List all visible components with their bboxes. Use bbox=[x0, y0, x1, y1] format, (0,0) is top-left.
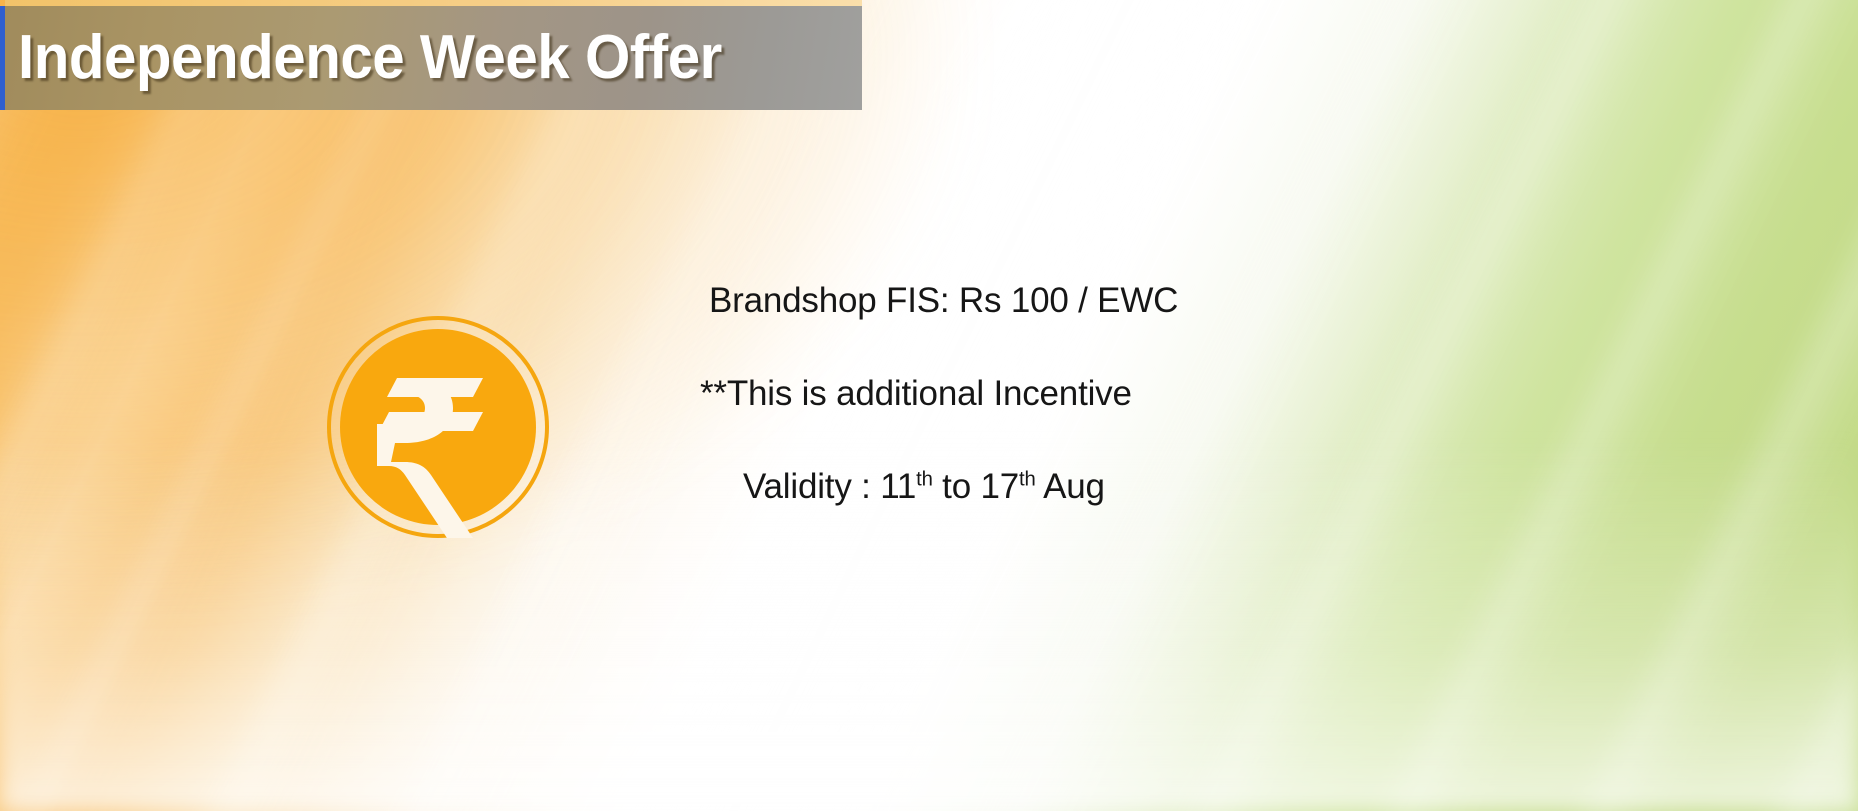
validity-middle: to 17 bbox=[933, 467, 1019, 506]
rupee-symbol-icon bbox=[327, 316, 549, 538]
offer-line-validity: Validity : 11th to 17th Aug bbox=[743, 469, 1420, 504]
validity-prefix: Validity : 11 bbox=[743, 467, 916, 506]
validity-ordinal-start: th bbox=[916, 468, 933, 490]
title-bar-top-accent bbox=[5, 0, 862, 6]
title-bar: Independence Week Offer bbox=[0, 6, 862, 110]
validity-suffix: Aug bbox=[1036, 467, 1105, 506]
offer-details: Brandshop FIS: Rs 100 / EWC **This is ad… bbox=[700, 283, 1420, 504]
validity-ordinal-end: th bbox=[1019, 468, 1036, 490]
title-bar-left-accent bbox=[0, 6, 5, 110]
offer-line-incentive-note: **This is additional Incentive bbox=[700, 376, 1420, 411]
rupee-coin-icon bbox=[327, 316, 549, 538]
offer-slide: Independence Week Offer Brandshop FIS: R… bbox=[0, 0, 1858, 811]
page-title: Independence Week Offer bbox=[18, 27, 722, 89]
offer-line-brandshop: Brandshop FIS: Rs 100 / EWC bbox=[709, 283, 1420, 318]
